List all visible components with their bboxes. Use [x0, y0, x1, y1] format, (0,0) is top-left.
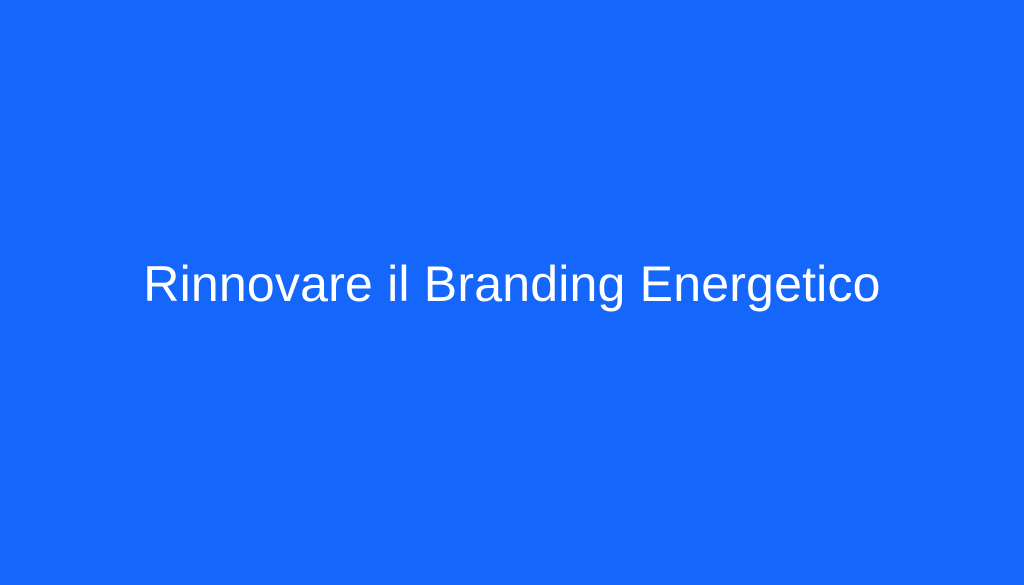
- hero-banner: Rinnovare il Branding Energetico: [0, 0, 1024, 585]
- page-title: Rinnovare il Branding Energetico: [0, 256, 1024, 314]
